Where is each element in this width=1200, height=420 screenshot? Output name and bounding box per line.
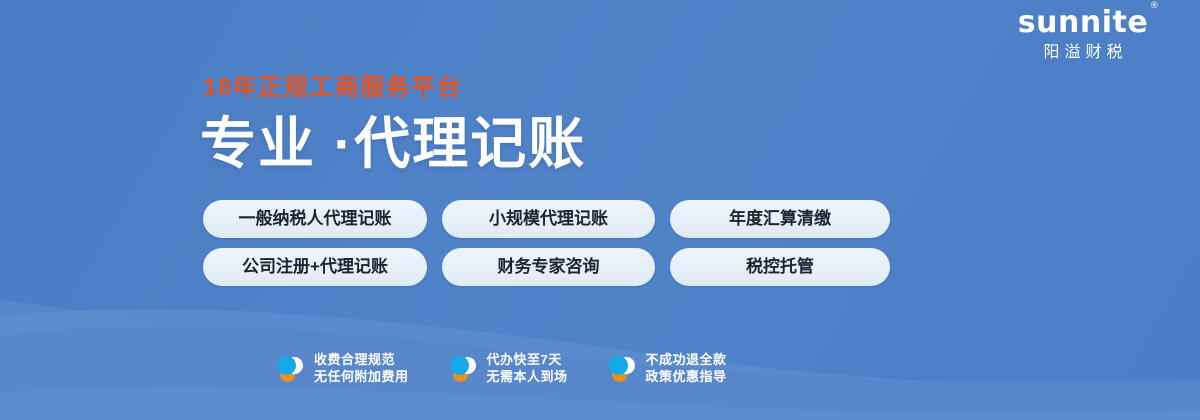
feature-item-pricing: 收费合理规范 无任何附加费用	[276, 351, 409, 385]
feature-line-2: 无需本人到场	[487, 368, 568, 385]
feature-text: 收费合理规范 无任何附加费用	[314, 351, 409, 385]
feature-strip: 收费合理规范 无任何附加费用 代办快至7天 无需本人到场 不成功退全款	[276, 351, 727, 385]
brand-logo[interactable]: sunnite ® 阳溢财税	[988, 8, 1178, 61]
feature-line-1: 不成功退全款	[646, 351, 727, 368]
service-pill-annual-settlement[interactable]: 年度汇算清缴	[670, 200, 890, 238]
service-pill-company-registration-bookkeeping[interactable]: 公司注册+代理记账	[203, 248, 427, 286]
service-pill-row: 一般纳税人代理记账 小规模代理记账 年度汇算清缴	[203, 200, 903, 238]
service-pill-finance-expert-consulting[interactable]: 财务专家咨询	[442, 248, 655, 286]
logo-wordmark-text: sunnite	[1018, 5, 1148, 40]
logo-wordmark: sunnite ®	[1018, 8, 1148, 38]
feature-item-speed: 代办快至7天 无需本人到场	[449, 351, 568, 385]
feature-line-1: 代办快至7天	[487, 351, 568, 368]
promo-banner: sunnite ® 阳溢财税 18年正规工商服务平台 专业 ·代理记账 一般纳税…	[0, 0, 1200, 420]
feature-item-guarantee: 不成功退全款 政策优惠指导	[608, 351, 727, 385]
feature-text: 不成功退全款 政策优惠指导	[646, 351, 727, 385]
registered-trademark-icon: ®	[1150, 2, 1160, 11]
feature-line-2: 政策优惠指导	[646, 368, 727, 385]
logo-chinese-name: 阳溢财税	[988, 45, 1178, 61]
service-pill-row: 公司注册+代理记账 财务专家咨询 税控托管	[203, 248, 903, 286]
service-pill-tax-control-hosting[interactable]: 税控托管	[670, 248, 890, 286]
circle-drop-icon	[449, 351, 479, 385]
feature-line-2: 无任何附加费用	[314, 368, 409, 385]
circle-drop-icon	[276, 351, 306, 385]
feature-line-1: 收费合理规范	[314, 351, 409, 368]
service-pill-small-scale-bookkeeping[interactable]: 小规模代理记账	[442, 200, 655, 238]
feature-text: 代办快至7天 无需本人到场	[487, 351, 568, 385]
hero-title: 专业 ·代理记账	[200, 116, 586, 172]
service-pill-grid: 一般纳税人代理记账 小规模代理记账 年度汇算清缴 公司注册+代理记账 财务专家咨…	[203, 200, 903, 296]
circle-drop-icon	[608, 351, 638, 385]
service-pill-general-taxpayer-bookkeeping[interactable]: 一般纳税人代理记账	[203, 200, 427, 238]
hero-kicker: 18年正规工商服务平台	[203, 76, 462, 100]
